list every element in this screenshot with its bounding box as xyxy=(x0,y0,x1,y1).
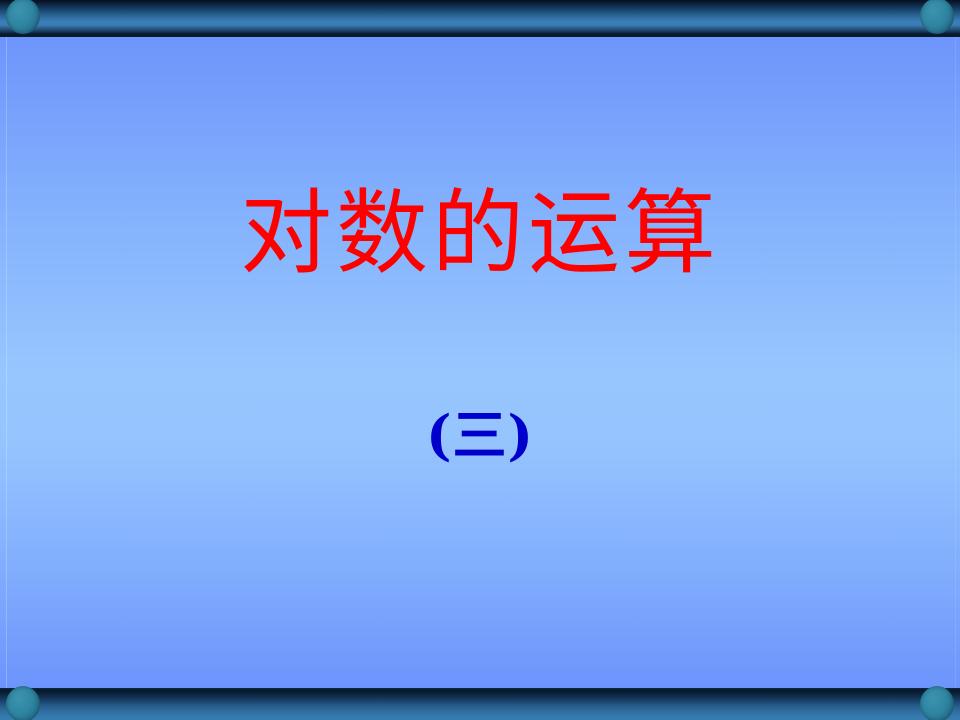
corner-ellipse-bottom-right-icon xyxy=(920,686,954,720)
slide-frame-border xyxy=(6,36,956,690)
top-bar-separator xyxy=(0,33,960,37)
top-decorative-bar xyxy=(0,0,960,37)
presentation-slide: 对数的运算 (三) xyxy=(0,0,960,720)
slide-title: 对数的运算 xyxy=(0,186,960,283)
corner-ellipse-bottom-left-icon xyxy=(6,686,40,720)
slide-subtitle: (三) xyxy=(0,406,960,465)
bottom-decorative-bar xyxy=(0,690,960,720)
subtitle-block: (三) xyxy=(0,406,960,465)
title-block: 对数的运算 xyxy=(0,186,960,283)
